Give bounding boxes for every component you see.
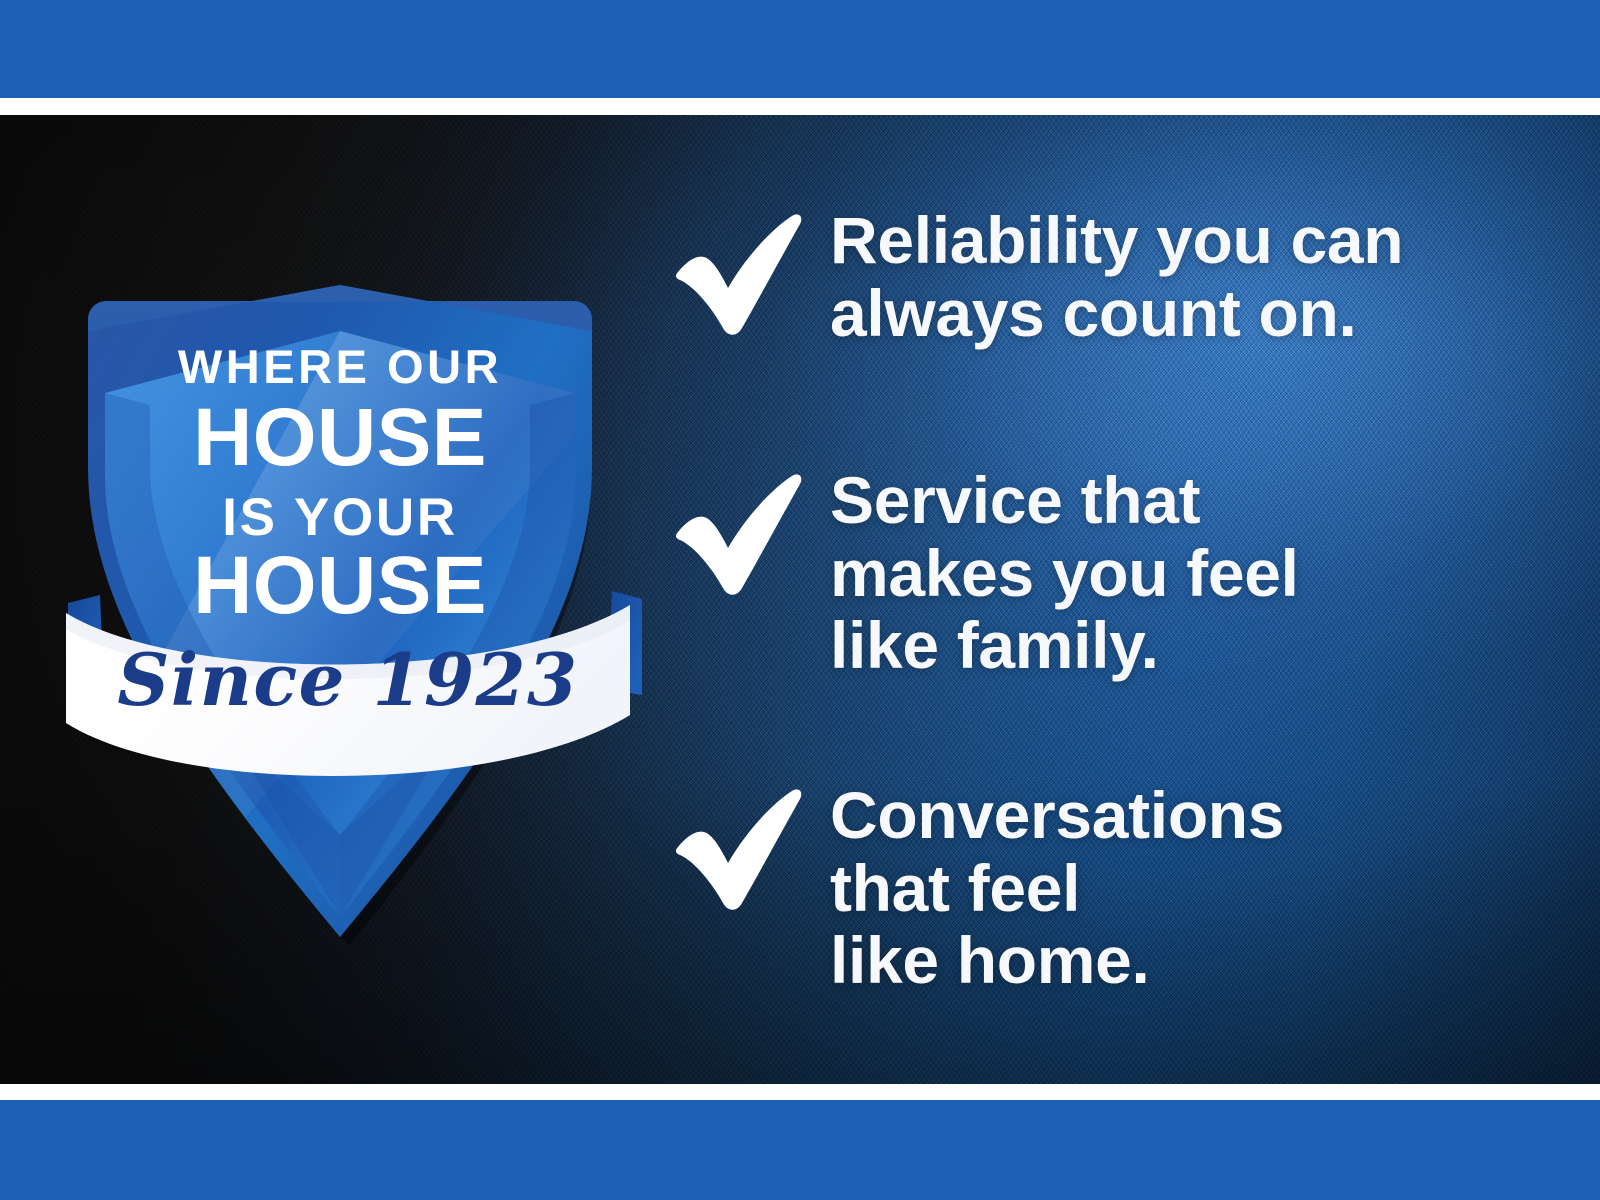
emblem-line-3: IS YOUR xyxy=(222,488,458,547)
emblem-line-2: HOUSE xyxy=(193,392,487,483)
bottom-brand-band xyxy=(0,1100,1600,1200)
benefit-text-1: Reliability you can always count on. xyxy=(830,204,1570,349)
benefit-text-2: Service that makes you feel like family. xyxy=(830,464,1570,682)
promo-graphic: WHERE OUR HOUSE IS YOUR HOUSE Since 1923… xyxy=(0,0,1600,1200)
top-brand-band xyxy=(0,0,1600,98)
top-divider-stripe xyxy=(0,98,1600,115)
emblem-line-1: WHERE OUR xyxy=(178,340,502,393)
emblem-line-4: HOUSE xyxy=(193,540,487,631)
ribbon-since-text: Since 1923 xyxy=(117,637,578,722)
checkmark-icon xyxy=(670,470,810,600)
checkmark-icon xyxy=(670,210,810,340)
benefit-text-3: Conversations that feel like home. xyxy=(830,779,1570,997)
shield-emblem: WHERE OUR HOUSE IS YOUR HOUSE Since 1923 xyxy=(30,135,670,835)
bottom-divider-stripe xyxy=(0,1084,1600,1100)
benefits-list: Reliability you can always count on. Ser… xyxy=(665,115,1570,1084)
checkmark-icon xyxy=(670,785,810,915)
